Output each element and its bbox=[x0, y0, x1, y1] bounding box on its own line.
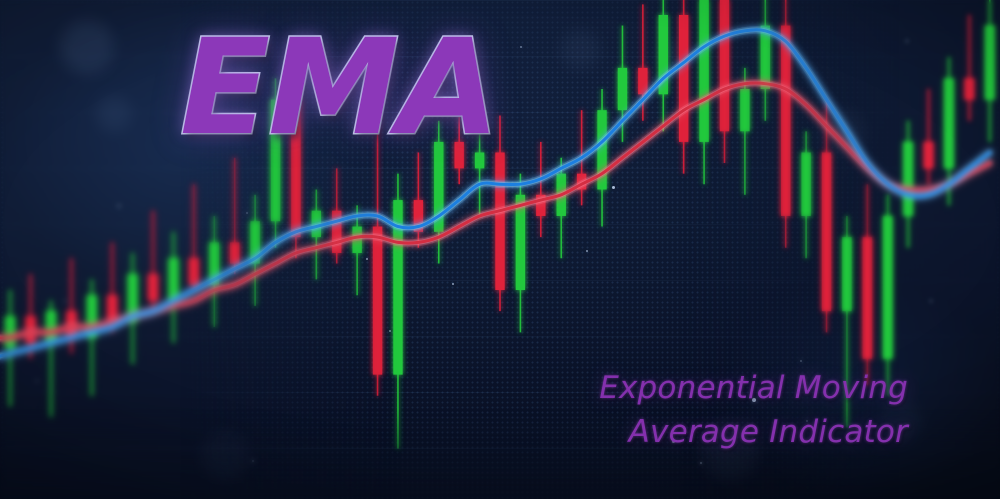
subtitle-line-2: Average Indicator bbox=[388, 410, 908, 454]
subtitle: Exponential Moving Average Indicator bbox=[388, 366, 908, 454]
subtitle-line-1: Exponential Moving bbox=[388, 366, 908, 410]
page-title: EMA bbox=[180, 22, 498, 154]
ema-banner: EMA Exponential Moving Average Indicator bbox=[0, 0, 1000, 499]
